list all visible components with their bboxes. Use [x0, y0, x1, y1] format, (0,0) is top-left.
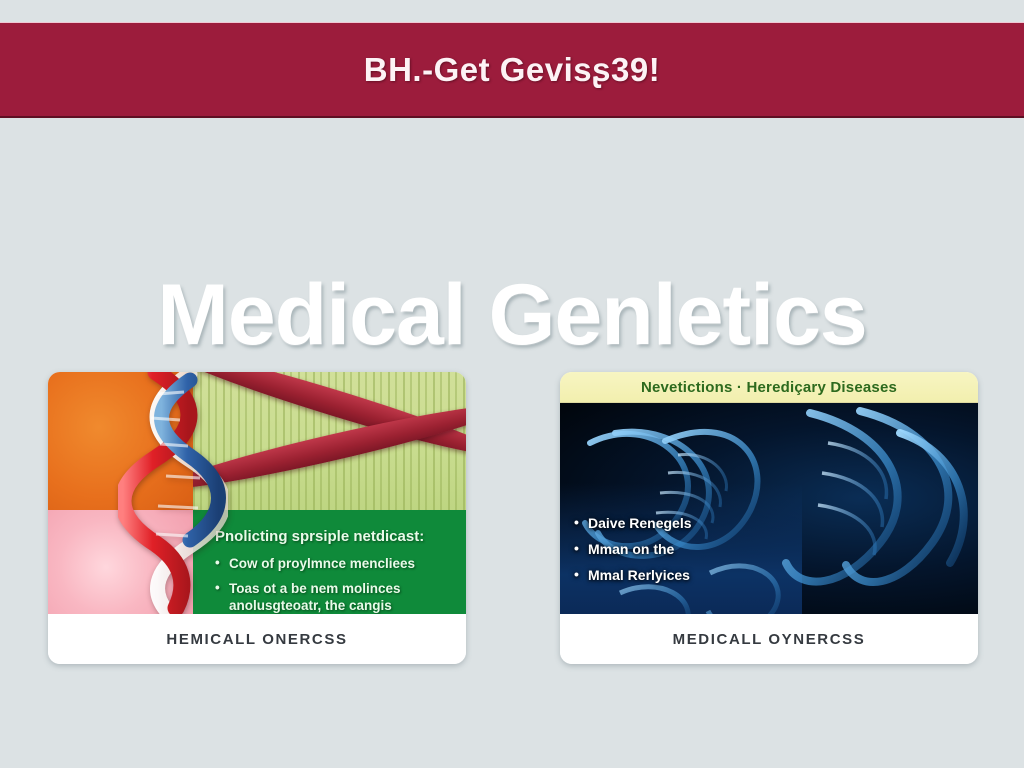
- card-right-bullet: Mman on the: [574, 540, 692, 559]
- card-right-artwork: Daive Renegels Mman on the Mmal Rerlyice…: [560, 403, 978, 614]
- card-right[interactable]: Nevetictions · Herediçary Diseases: [560, 372, 978, 664]
- card-right-caption: MEDICALL OYNERCSS: [560, 614, 978, 664]
- card-right-body: Daive Renegels Mman on the Mmal Rerlyice…: [560, 403, 978, 614]
- pink-quadrant: [48, 510, 193, 614]
- card-left-body: Pnolicting sprsiple netdicast: Cow of pr…: [48, 372, 466, 614]
- card-right-bullet: Mmal Rerlyices: [574, 566, 692, 585]
- header-banner: BH.-Get Gevisʂ39!: [0, 22, 1024, 118]
- card-right-bullets: Daive Renegels Mman on the Mmal Rerlyice…: [574, 514, 692, 592]
- page-title: Medical Genletics: [0, 272, 1024, 358]
- chromatin-photo: [193, 372, 466, 510]
- green-panel-bullets: Cow of proylmnce mencliees Toas ot a be …: [215, 555, 452, 614]
- orange-quadrant: [48, 372, 193, 510]
- card-left[interactable]: Pnolicting sprsiple netdicast: Cow of pr…: [48, 372, 466, 664]
- green-panel-bullet: Toas ot a be nem molinces anolusgteoatr,…: [215, 580, 452, 614]
- card-left-caption: HEMICALL ONERCSS: [48, 614, 466, 664]
- card-right-bullet: Daive Renegels: [574, 514, 692, 533]
- slide-canvas: BH.-Get Gevisʂ39! Medical Genletics Pnol…: [0, 0, 1024, 768]
- card-right-banner: Nevetictions · Herediçary Diseases: [560, 372, 978, 403]
- green-panel-heading: Pnolicting sprsiple netdicast:: [215, 528, 452, 545]
- header-title: BH.-Get Gevisʂ39!: [364, 51, 660, 89]
- card-left-artwork: Pnolicting sprsiple netdicast: Cow of pr…: [48, 372, 466, 614]
- green-text-panel: Pnolicting sprsiple netdicast: Cow of pr…: [193, 510, 466, 614]
- green-panel-bullet: Cow of proylmnce mencliees: [215, 555, 452, 573]
